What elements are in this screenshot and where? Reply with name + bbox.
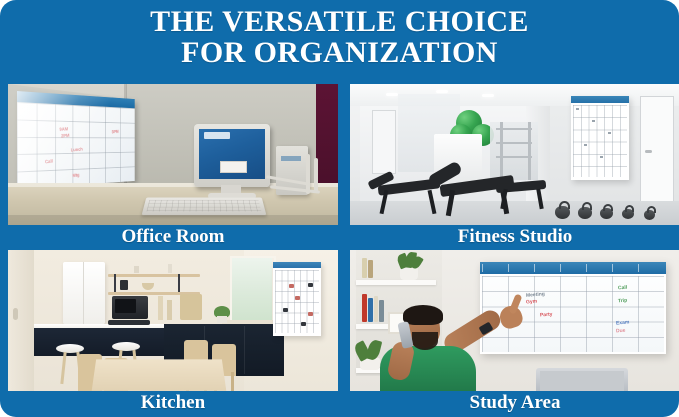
gym-interior-door: [372, 110, 396, 174]
shelf-board: [356, 280, 436, 285]
calendar-note: Exam: [616, 319, 630, 326]
laptop-screen: [540, 371, 624, 391]
shelf-item: [168, 264, 172, 273]
cutting-boards: [180, 294, 202, 320]
scene-card-kitchen: Kitchen: [8, 250, 338, 412]
calendar-note: Due: [616, 328, 626, 335]
caption-office-room: Office Room: [8, 225, 338, 246]
refrigerator-door-gap: [83, 262, 84, 324]
monitor-logo: [204, 132, 230, 139]
window-frame: [230, 256, 276, 326]
caption-study-area: Study Area: [350, 391, 679, 412]
scene-card-study-area: Meeting Gym Party Call Trip Exam Due: [350, 250, 679, 412]
scene-grid: 9AM 2PM Lunch Call Mtg 3PM: [8, 84, 671, 410]
kettlebell-handle: [625, 205, 634, 212]
calendar-header-bar: [480, 262, 666, 274]
calendar-glare: [17, 91, 135, 189]
poster-root: THE VERSATILE CHOICE FOR ORGANIZATION 9A…: [0, 0, 679, 417]
rack-post: [528, 122, 531, 180]
calendar-note: Party: [540, 311, 553, 318]
calendar-day-mark: [289, 284, 294, 288]
cooktop: [108, 320, 150, 325]
photo-office-room: 9AM 2PM Lunch Call Mtg 3PM: [8, 84, 338, 225]
calendar-grid: [573, 105, 627, 177]
wall-calendar: [571, 96, 629, 180]
dining-table: [92, 359, 227, 390]
calendar-day-mark: [283, 308, 288, 312]
title-line-2: FOR ORGANIZATION: [0, 37, 679, 68]
kitchen-island: [34, 328, 164, 356]
calendar-day-mark: [576, 108, 579, 110]
cable: [306, 154, 310, 194]
calendar-note: Gym: [526, 299, 538, 306]
kettlebell-handle: [559, 201, 570, 209]
calendar-grid: [275, 270, 319, 333]
keyboard-keys: [147, 200, 262, 211]
page-title: THE VERSATILE CHOICE FOR ORGANIZATION: [0, 6, 679, 68]
calendar-header-bar: [571, 96, 629, 103]
calendar-note: Call: [618, 285, 628, 292]
book: [362, 294, 367, 322]
kettlebell-handle: [603, 204, 613, 211]
ceiling-light: [436, 90, 448, 93]
caption-kitchen: Kitchen: [8, 391, 338, 412]
title-line-1: THE VERSATILE CHOICE: [150, 5, 529, 38]
chair-leg: [231, 372, 234, 391]
calendar-day-mark: [308, 283, 313, 287]
shelf-item: [134, 266, 139, 273]
bar-stool: [56, 344, 84, 353]
calendar-note: Trip: [618, 298, 628, 305]
scene-card-fitness-studio: Fitness Studio: [350, 84, 679, 246]
gym-entry-door: [640, 96, 674, 210]
canister: [167, 300, 172, 320]
wall-calendar: [273, 262, 321, 336]
photo-fitness-studio: [350, 84, 679, 225]
weight-bench: [490, 176, 556, 210]
photo-study-area: Meeting Gym Party Call Trip Exam Due: [350, 250, 679, 391]
person-beard: [412, 332, 438, 350]
book: [368, 260, 373, 278]
caption-fitness-studio: Fitness Studio: [350, 225, 679, 246]
book: [374, 296, 378, 322]
door-handle: [13, 308, 18, 320]
book: [379, 300, 384, 322]
microwave-door: [115, 299, 136, 313]
calendar-day-mark: [608, 132, 611, 134]
keyboard: [142, 198, 267, 216]
open-shelf: [108, 274, 200, 277]
kitchen-door-frame: [8, 250, 34, 391]
calendar-day-mark: [600, 156, 603, 158]
calendar-day-mark: [584, 144, 587, 146]
photo-kitchen: [8, 250, 338, 391]
book: [368, 298, 373, 322]
pc-tower-logo: [281, 156, 301, 161]
calendar-day-mark: [301, 322, 306, 326]
refrigerator: [63, 262, 105, 324]
kettlebell-handle: [647, 206, 656, 213]
shelf-jar: [120, 280, 128, 290]
ceiling-light: [386, 93, 398, 96]
monitor-sticker: [220, 161, 247, 173]
person-hair: [403, 305, 443, 325]
shelf-bracket: [114, 274, 116, 292]
scene-card-office-room: 9AM 2PM Lunch Call Mtg 3PM: [8, 84, 338, 246]
desk-shadow: [8, 215, 338, 225]
ceiling-light: [482, 94, 494, 97]
cabinet-seam: [244, 326, 245, 374]
calendar-header-columns: [482, 264, 664, 272]
plant-pot: [217, 316, 227, 323]
plant-pot: [400, 268, 418, 280]
book: [362, 258, 367, 278]
door-handle: [645, 150, 652, 153]
calendar-header-bar: [273, 262, 321, 268]
kettlebell-handle: [582, 202, 592, 210]
calendar-day-mark: [295, 296, 300, 300]
calendar-day-mark: [592, 120, 595, 122]
office-maroon-wall: [316, 84, 338, 196]
bar-stool: [112, 342, 140, 351]
cable: [314, 158, 318, 192]
bench-leg: [536, 189, 543, 209]
shelf-bracket: [178, 274, 180, 292]
calendar-day-mark: [308, 312, 313, 316]
canister: [158, 296, 163, 320]
wall-calendar: 9AM 2PM Lunch Call Mtg 3PM: [17, 91, 135, 189]
